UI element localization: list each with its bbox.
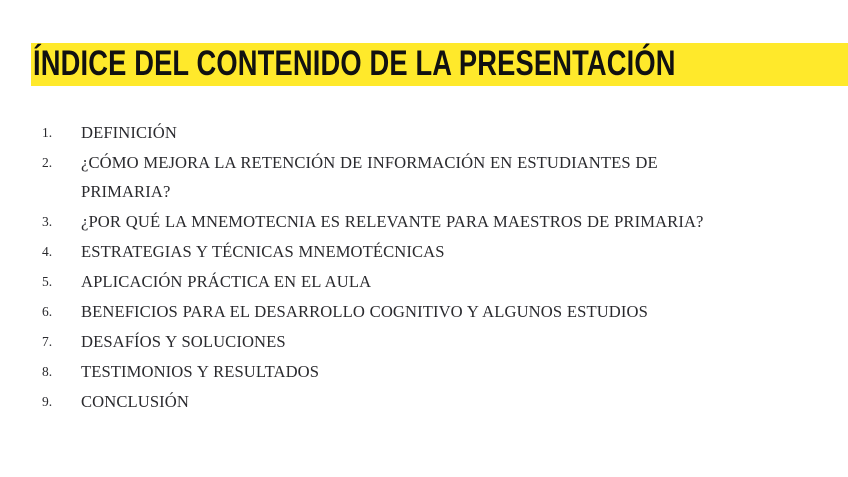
list-item-number: 4. (38, 237, 81, 266)
list-item-label: DESAFÍOS Y SOLUCIONES (81, 327, 798, 356)
list-item-label: DEFINICIÓN (81, 118, 798, 147)
list-item: 1. DEFINICIÓN (38, 118, 798, 147)
list-item-number: 1. (38, 118, 81, 147)
list-item: 7. DESAFÍOS Y SOLUCIONES (38, 327, 798, 356)
list-item-number: 2. (38, 148, 81, 177)
list-item-number: 8. (38, 357, 81, 386)
list-item-label: ¿POR QUÉ LA MNEMOTECNIA ES RELEVANTE PAR… (81, 207, 798, 236)
list-item: 8. TESTIMONIOS Y RESULTADOS (38, 357, 798, 386)
list-item-number: 9. (38, 387, 81, 416)
slide-title: ÍNDICE DEL CONTENIDO DE LA PRESENTACIÓN (31, 44, 848, 84)
list-item: 3. ¿POR QUÉ LA MNEMOTECNIA ES RELEVANTE … (38, 207, 798, 236)
list-item-label: ESTRATEGIAS Y TÉCNICAS MNEMOTÉCNICAS (81, 237, 798, 266)
list-item-number: 6. (38, 297, 81, 326)
list-item-label: BENEFICIOS PARA EL DESARROLLO COGNITIVO … (81, 297, 798, 326)
table-of-contents-list: 1. DEFINICIÓN 2. ¿CÓMO MEJORA LA RETENCI… (38, 118, 798, 417)
list-item-number: 5. (38, 267, 81, 296)
presentation-slide: ÍNDICE DEL CONTENIDO DE LA PRESENTACIÓN … (0, 0, 848, 477)
list-item: 5. APLICACIÓN PRÁCTICA EN EL AULA (38, 267, 798, 296)
list-item-label: ¿CÓMO MEJORA LA RETENCIÓN DE INFORMACIÓN… (81, 148, 731, 206)
list-item: 4. ESTRATEGIAS Y TÉCNICAS MNEMOTÉCNICAS (38, 237, 798, 266)
title-highlight-band: ÍNDICE DEL CONTENIDO DE LA PRESENTACIÓN (31, 43, 848, 86)
list-item-label: CONCLUSIÓN (81, 387, 798, 416)
list-item-label: TESTIMONIOS Y RESULTADOS (81, 357, 798, 386)
list-item-number: 7. (38, 327, 81, 356)
title-text: ÍNDICE DEL CONTENIDO DE LA PRESENTACIÓN (33, 46, 676, 81)
list-item-label: APLICACIÓN PRÁCTICA EN EL AULA (81, 267, 798, 296)
list-item: 9. CONCLUSIÓN (38, 387, 798, 416)
list-item: 6. BENEFICIOS PARA EL DESARROLLO COGNITI… (38, 297, 798, 326)
list-item: 2. ¿CÓMO MEJORA LA RETENCIÓN DE INFORMAC… (38, 148, 798, 206)
list-item-number: 3. (38, 207, 81, 236)
